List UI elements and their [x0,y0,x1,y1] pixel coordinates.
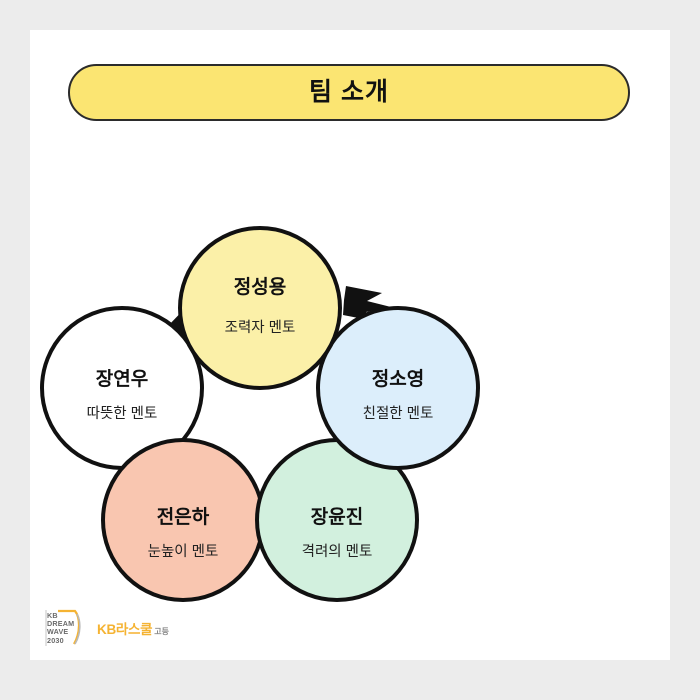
team-node-role-jangyunjin: 격려의 멘토 [302,543,373,560]
team-node-jeongseongyong[interactable]: 정성용 조력자 멘토 [180,228,340,388]
slide-canvas: 팀 소개 [30,30,670,660]
team-node-role-jangyeonu: 따뜻한 멘토 [87,405,158,422]
team-node-role-jeongseongyong: 조력자 멘토 [225,319,296,336]
kb-school-brand-sub: 고등 [154,626,169,637]
kb-dream-wave-logo-text: KB DREAM WAVE 2030 [47,612,77,645]
slide-title-banner: 팀 소개 [68,64,630,121]
kb-dream-wave-logo-icon: KB DREAM WAVE 2030 [44,608,88,648]
team-node-jeoneunha[interactable]: 전은하 눈높이 멘토 [103,440,263,600]
team-node-role-jeoneunha: 눈높이 멘토 [148,543,219,560]
team-node-name-jeoneunha: 전은하 [157,506,210,528]
team-node-name-jangyunjin: 장윤진 [311,506,363,528]
team-node-role-jeongsoyeong: 친절한 멘토 [363,405,434,422]
team-node-name-jeongseongyong: 정성용 [234,276,286,298]
kb-mark-line-4: 2030 [47,637,77,645]
footer-branding: KB DREAM WAVE 2030 KB라스쿨 고등 [44,606,169,650]
team-node-circle-jeongseongyong [180,228,340,388]
team-node-name-jeongsoyeong: 정소영 [372,368,424,390]
team-node-name-jangyeonu: 장연우 [96,368,148,390]
page-title: 팀 소개 [309,80,389,105]
kb-school-brand-name: KB라스쿨 [97,618,152,638]
team-node-jeongsoyeong[interactable]: 정소영 친절한 멘토 [318,308,478,468]
team-cycle-diagram: 장연우 따뜻한 멘토 전은하 눈높이 멘토 장윤진 격려의 멘토 정소영 친절한… [30,160,670,610]
kb-school-brand: KB라스쿨 고등 [97,618,169,638]
